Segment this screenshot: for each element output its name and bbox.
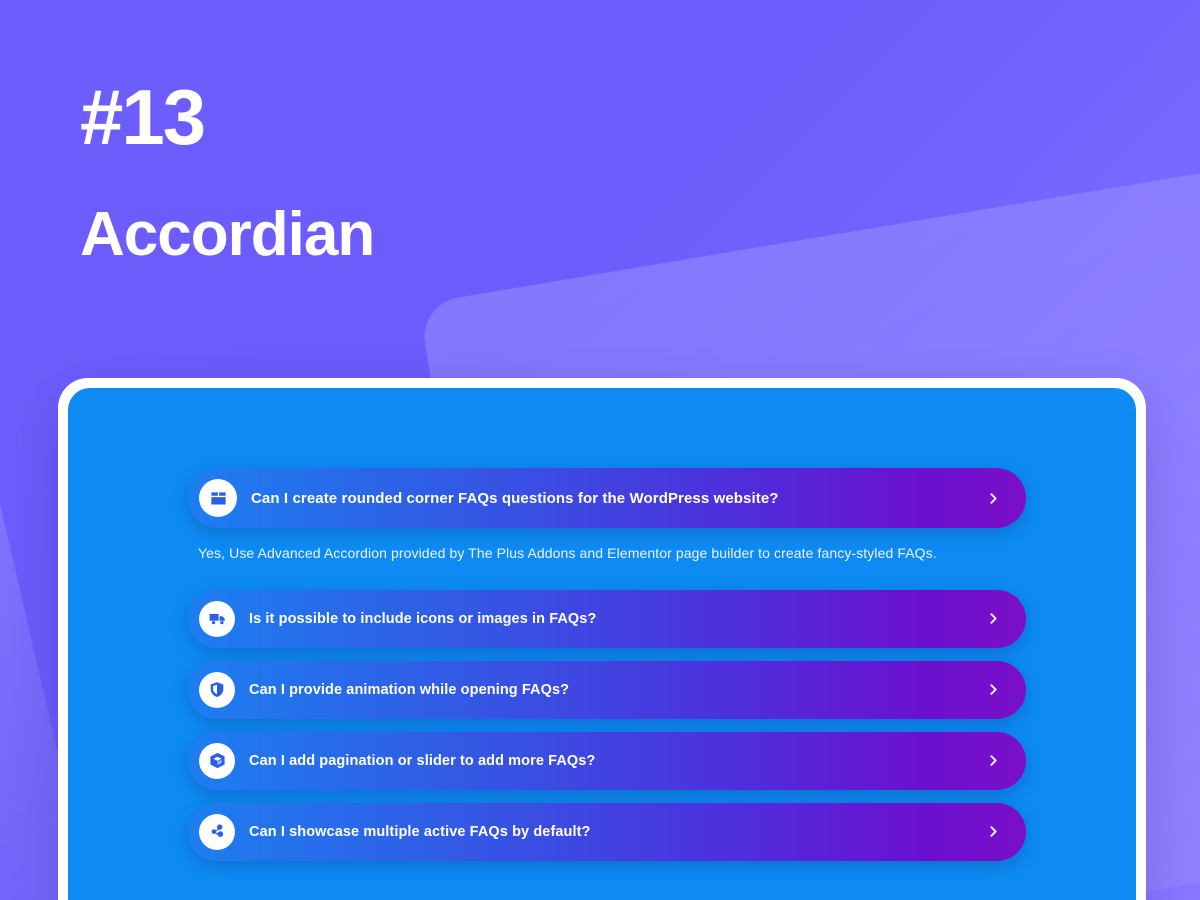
accordion-header[interactable]: Can I add pagination or slider to add mo… (188, 732, 1026, 790)
chevron-right-icon[interactable] (982, 679, 1004, 701)
shield-icon (199, 672, 235, 708)
accordion-header[interactable]: Can I provide animation while opening FA… (188, 661, 1026, 719)
delivery-truck-icon (199, 601, 235, 637)
package-box-icon (199, 479, 237, 517)
accordion-question: Can I add pagination or slider to add mo… (249, 753, 982, 769)
slide-number: #13 (80, 78, 374, 156)
accordion-answer: Yes, Use Advanced Accordion provided by … (198, 544, 1018, 564)
chevron-right-icon[interactable] (982, 821, 1004, 843)
accordion-question: Is it possible to include icons or image… (249, 611, 982, 627)
accordion-item[interactable]: Can I provide animation while opening FA… (188, 661, 1026, 719)
cube-3d-icon (199, 743, 235, 779)
network-nodes-icon (199, 814, 235, 850)
accordion-item[interactable]: Is it possible to include icons or image… (188, 590, 1026, 648)
accordion-header[interactable]: Can I create rounded corner FAQs questio… (188, 468, 1026, 528)
accordion-card: Can I create rounded corner FAQs questio… (68, 388, 1136, 900)
accordion-question: Can I showcase multiple active FAQs by d… (249, 824, 982, 840)
accordion-question: Can I create rounded corner FAQs questio… (251, 490, 982, 507)
chevron-right-icon[interactable] (982, 487, 1004, 509)
page-title: Accordian (80, 204, 374, 266)
accordion-item[interactable]: Can I add pagination or slider to add mo… (188, 732, 1026, 790)
accordion-body: Yes, Use Advanced Accordion provided by … (188, 528, 1026, 578)
accordion-card-frame: Can I create rounded corner FAQs questio… (58, 378, 1146, 900)
accordion-question: Can I provide animation while opening FA… (249, 682, 982, 698)
accordion-header[interactable]: Can I showcase multiple active FAQs by d… (188, 803, 1026, 861)
chevron-right-icon[interactable] (982, 608, 1004, 630)
accordion-item[interactable]: Can I showcase multiple active FAQs by d… (188, 803, 1026, 861)
accordion-header[interactable]: Is it possible to include icons or image… (188, 590, 1026, 648)
accordion-item[interactable]: Can I create rounded corner FAQs questio… (188, 468, 1026, 578)
chevron-right-icon[interactable] (982, 750, 1004, 772)
slide-heading: #13 Accordian (80, 78, 374, 266)
accordion-list: Can I create rounded corner FAQs questio… (188, 468, 1026, 861)
